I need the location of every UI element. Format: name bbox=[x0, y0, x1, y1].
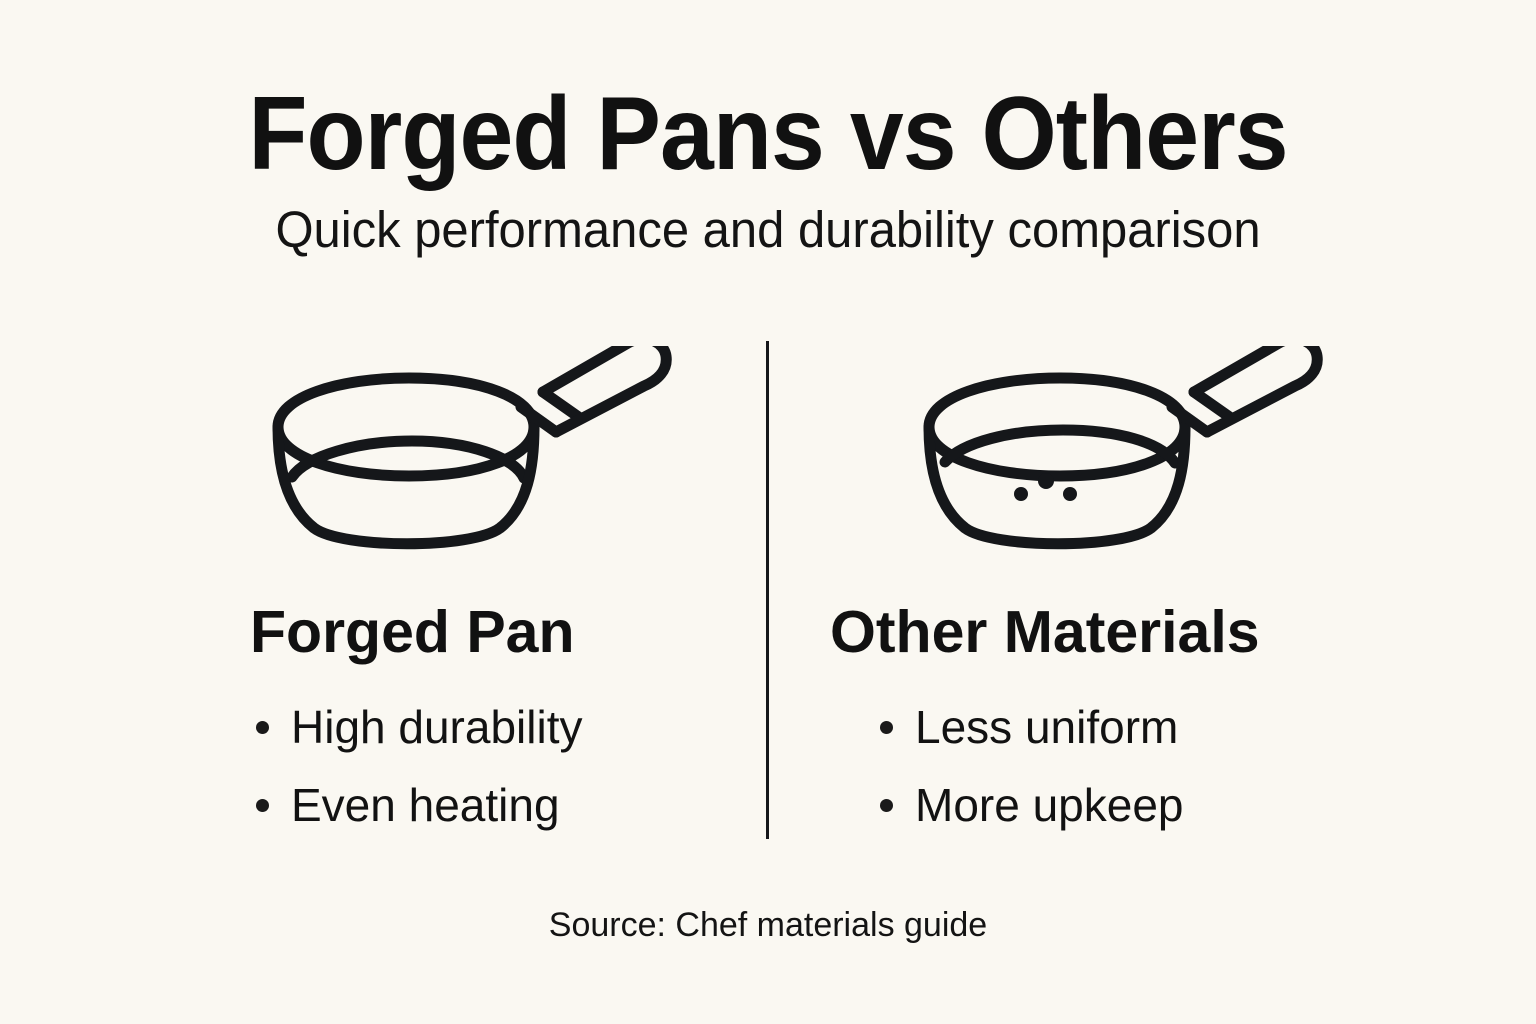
page-subtitle: Quick performance and durability compari… bbox=[31, 204, 1506, 255]
header: Forged Pans vs Others Quick performance … bbox=[0, 82, 1536, 255]
bullet-dot-icon bbox=[256, 721, 269, 734]
bullet-dot-icon bbox=[256, 799, 269, 812]
list-item: Less uniform bbox=[880, 704, 1184, 750]
bullet-list-forged: High durability Even heating bbox=[256, 704, 582, 860]
bullet-label: High durability bbox=[291, 704, 582, 750]
frying-pan-icon bbox=[262, 346, 682, 566]
bullet-label: More upkeep bbox=[915, 782, 1184, 828]
bullet-dot-icon bbox=[880, 721, 893, 734]
page-title: Forged Pans vs Others bbox=[54, 82, 1482, 186]
frying-pan-speckled-icon bbox=[913, 346, 1333, 566]
footer: Source: Chef materials guide bbox=[0, 908, 1536, 942]
source-note: Source: Chef materials guide bbox=[0, 908, 1536, 942]
list-item: More upkeep bbox=[880, 782, 1184, 828]
bullet-label: Even heating bbox=[291, 782, 560, 828]
bullet-list-others: Less uniform More upkeep bbox=[880, 704, 1184, 860]
infographic-canvas: Forged Pans vs Others Quick performance … bbox=[0, 0, 1536, 1024]
comparison-column-others: Other Materials Less uniform More upkeep bbox=[768, 341, 1536, 861]
bullet-dot-icon bbox=[880, 799, 893, 812]
column-heading-forged: Forged Pan bbox=[250, 603, 575, 662]
list-item: High durability bbox=[256, 704, 582, 750]
comparison-columns: Forged Pan High durability Even heating bbox=[0, 341, 1536, 861]
bullet-label: Less uniform bbox=[915, 704, 1178, 750]
column-heading-others: Other Materials bbox=[830, 603, 1260, 662]
comparison-column-forged: Forged Pan High durability Even heating bbox=[0, 341, 768, 861]
list-item: Even heating bbox=[256, 782, 582, 828]
